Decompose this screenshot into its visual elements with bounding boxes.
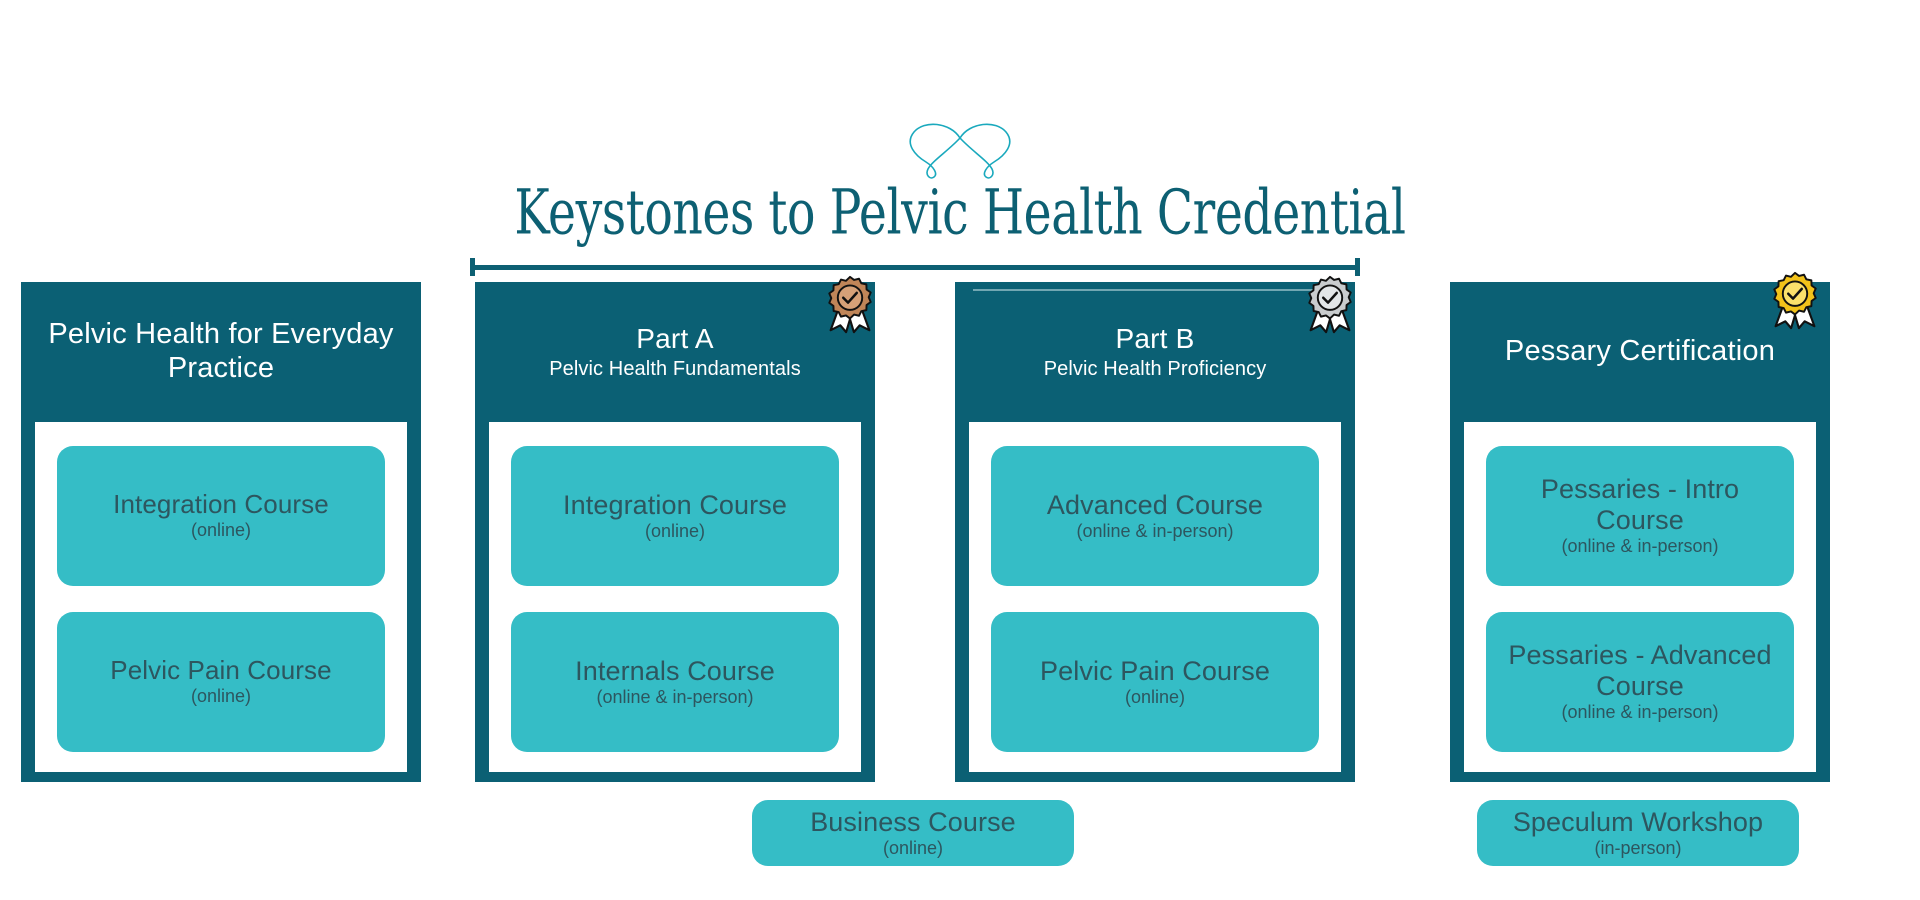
page-title: Keystones to Pelvic Health Credential xyxy=(134,182,1785,244)
card-header: Pelvic Health for Everyday Practice xyxy=(21,282,421,422)
card-header: Part B Pelvic Health Proficiency xyxy=(955,282,1355,422)
course-mode: (online) xyxy=(191,520,251,542)
card-course-list: Integration Course (online) Internals Co… xyxy=(489,422,861,772)
credential-span-bracket xyxy=(470,258,1360,276)
course-mode: (online & in-person) xyxy=(1561,536,1718,558)
course-mode: (online & in-person) xyxy=(1561,702,1718,724)
course-pill[interactable]: Advanced Course (online & in-person) xyxy=(991,446,1319,586)
bracket-bar xyxy=(470,265,1360,270)
card-title: Part A xyxy=(636,323,713,355)
course-name: Advanced Course xyxy=(1047,490,1263,520)
course-pill[interactable]: Internals Course (online & in-person) xyxy=(511,612,839,752)
card-header: Pessary Certification xyxy=(1450,282,1830,422)
course-name: Integration Course xyxy=(113,490,329,519)
course-name: Pelvic Pain Course xyxy=(110,656,331,685)
card-title: Pelvic Health for Everyday Practice xyxy=(35,318,407,385)
course-mode: (online) xyxy=(645,521,705,543)
card-everyday-practice[interactable]: Pelvic Health for Everyday Practice Inte… xyxy=(21,282,421,782)
course-name: Speculum Workshop xyxy=(1513,807,1763,837)
card-course-list: Integration Course (online) Pelvic Pain … xyxy=(35,422,407,772)
card-pessary-certification[interactable]: Pessary Certification Pessaries - Intro … xyxy=(1450,282,1830,782)
course-mode: (online & in-person) xyxy=(596,687,753,709)
course-pill[interactable]: Pessaries - Advanced Course (online & in… xyxy=(1486,612,1794,752)
course-name: Pessaries - Intro Course xyxy=(1496,474,1784,534)
card-title: Part B xyxy=(1115,323,1194,355)
card-course-list: Advanced Course (online & in-person) Pel… xyxy=(969,422,1341,772)
course-name: Pelvic Pain Course xyxy=(1040,656,1270,686)
card-part-a[interactable]: Part A Pelvic Health Fundamentals Integr… xyxy=(475,282,875,782)
double-loop-heart-logo xyxy=(900,118,1020,180)
gold-medal-icon xyxy=(1764,270,1826,332)
course-pill[interactable]: Pessaries - Intro Course (online & in-pe… xyxy=(1486,446,1794,586)
course-name: Pessaries - Advanced Course xyxy=(1496,640,1784,700)
course-pill-speculum[interactable]: Speculum Workshop (in-person) xyxy=(1477,800,1799,866)
course-mode: (in-person) xyxy=(1594,838,1681,860)
card-subtitle: Pelvic Health Fundamentals xyxy=(549,357,801,381)
course-pill-business[interactable]: Business Course (online) xyxy=(752,800,1074,866)
course-mode: (online & in-person) xyxy=(1076,521,1233,543)
bracket-cap-left xyxy=(470,258,475,276)
course-pill[interactable]: Pelvic Pain Course (online) xyxy=(57,612,385,752)
card-subtitle: Pelvic Health Proficiency xyxy=(1044,357,1267,381)
course-mode: (online) xyxy=(1125,687,1185,709)
course-pill[interactable]: Pelvic Pain Course (online) xyxy=(991,612,1319,752)
silver-medal-icon xyxy=(1299,274,1361,336)
card-title: Pessary Certification xyxy=(1505,335,1775,369)
credential-header: Keystones to Pelvic Health Credential xyxy=(0,0,1920,272)
course-name: Integration Course xyxy=(563,490,787,520)
course-pill[interactable]: Integration Course (online) xyxy=(511,446,839,586)
course-pill[interactable]: Integration Course (online) xyxy=(57,446,385,586)
card-course-list: Pessaries - Intro Course (online & in-pe… xyxy=(1464,422,1816,772)
bronze-medal-icon xyxy=(819,274,881,336)
course-name: Business Course xyxy=(810,807,1016,837)
course-mode: (online) xyxy=(883,838,943,860)
card-part-b[interactable]: Part B Pelvic Health Proficiency Advance… xyxy=(955,282,1355,782)
course-mode: (online) xyxy=(191,686,251,708)
card-header: Part A Pelvic Health Fundamentals xyxy=(475,282,875,422)
course-name: Internals Course xyxy=(575,656,775,686)
